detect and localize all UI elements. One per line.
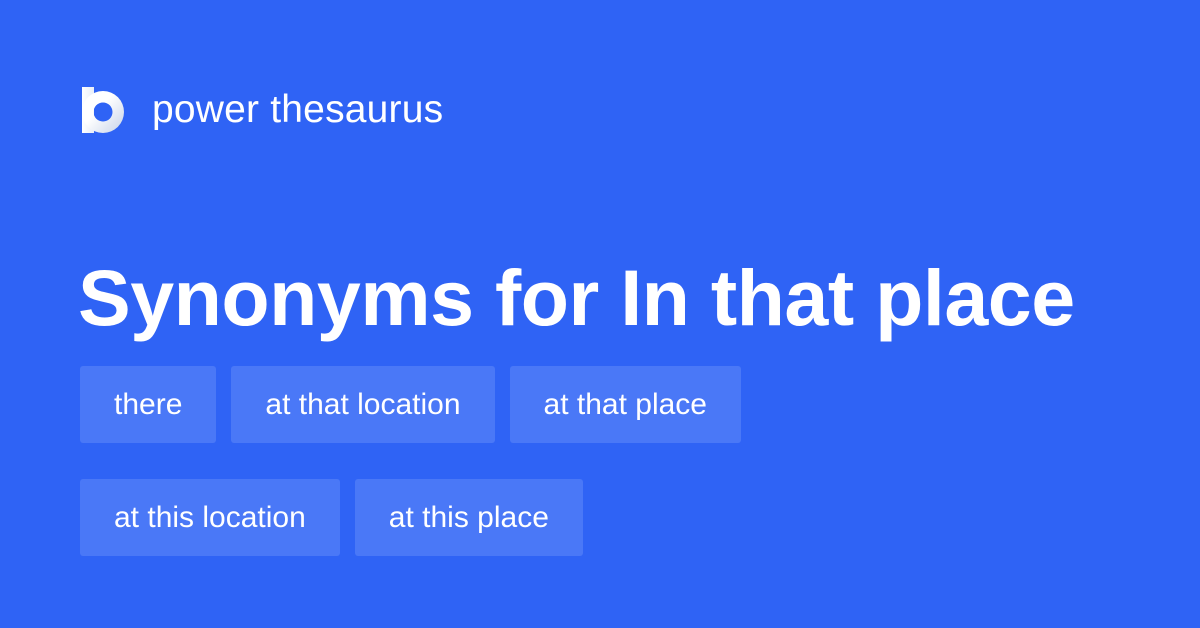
synonym-chip[interactable]: at that place: [510, 366, 741, 443]
brand-wordmark: power thesaurus: [152, 87, 443, 133]
page-title: Synonyms for In that place: [78, 252, 1148, 344]
synonym-chip[interactable]: at this location: [80, 479, 340, 556]
synonym-chip-list: there at that location at that place at …: [80, 366, 1140, 556]
synonym-chip[interactable]: there: [80, 366, 216, 443]
synonym-chip[interactable]: at that location: [231, 366, 494, 443]
synonym-chip[interactable]: at this place: [355, 479, 583, 556]
power-thesaurus-b-logo-icon: [80, 87, 124, 133]
share-card: power thesaurus Synonyms for In that pla…: [0, 0, 1200, 628]
brand-logo[interactable]: power thesaurus: [80, 82, 443, 138]
